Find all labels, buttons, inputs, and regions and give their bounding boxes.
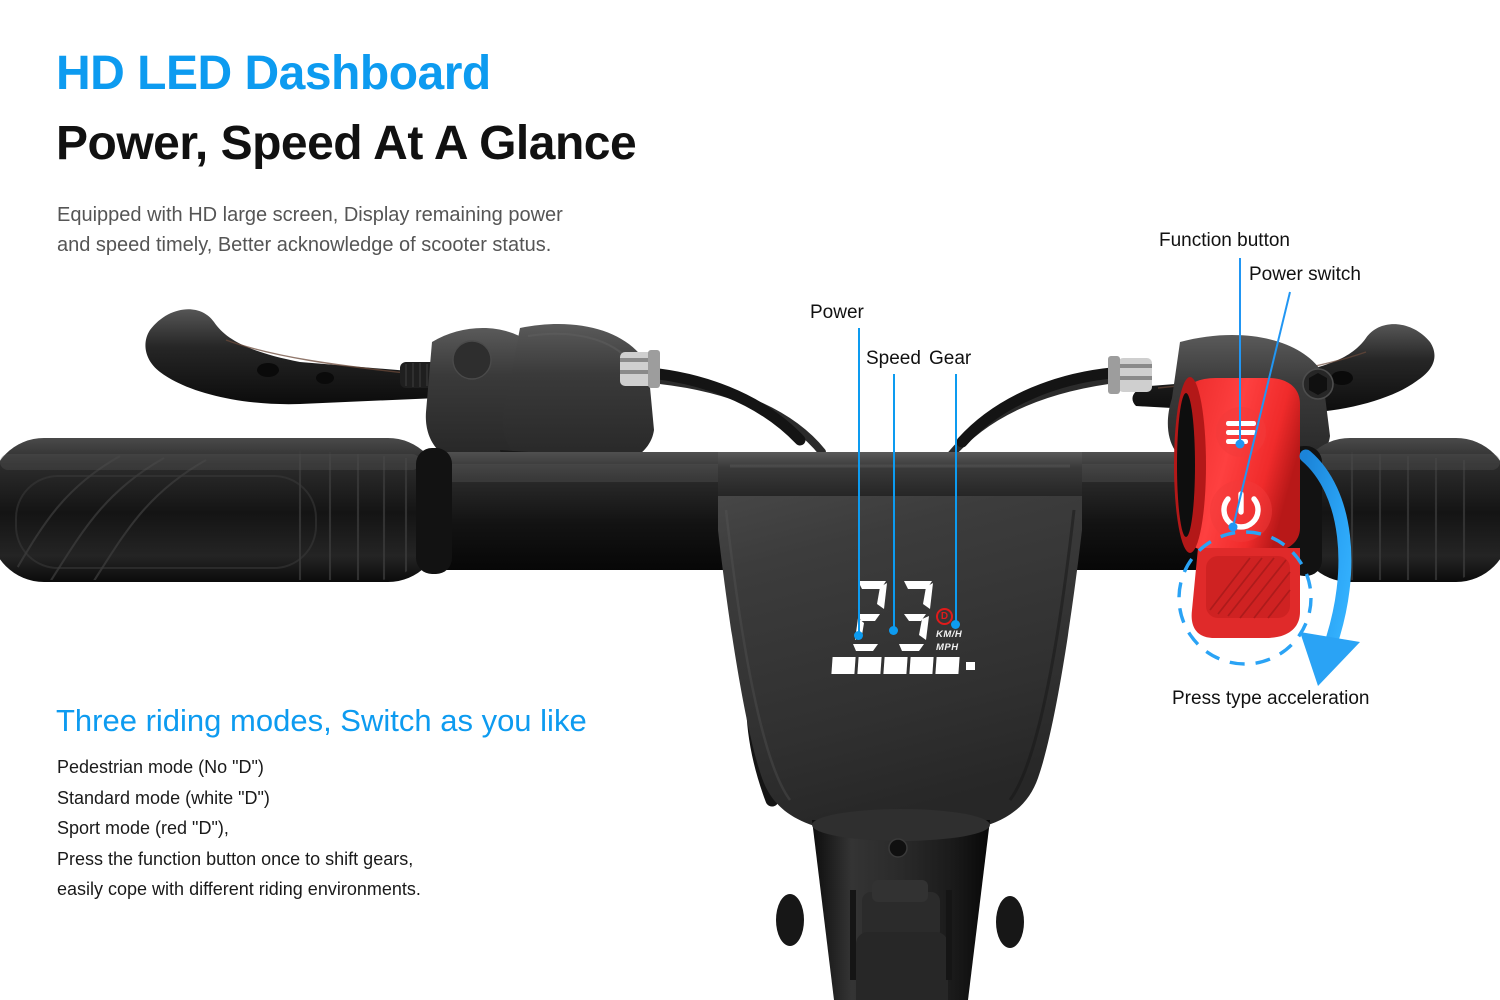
battery-bar — [883, 657, 907, 674]
list-item: Pedestrian mode (No "D") — [57, 752, 421, 783]
battery-bar — [909, 657, 933, 674]
list-item: Standard mode (white "D") — [57, 783, 421, 814]
right-handgrip — [1288, 438, 1500, 582]
leader-dot-gear — [951, 620, 960, 629]
callout-speed: Speed — [866, 348, 921, 370]
cable-adjuster-right — [1108, 356, 1152, 394]
seven-segment-digits — [850, 578, 942, 652]
cable-adjuster-left — [620, 350, 660, 388]
headline-accent: HD LED Dashboard — [56, 46, 491, 101]
battery-bar — [857, 657, 881, 674]
led-display: D KM/H MPH — [832, 578, 972, 678]
headline-main: Power, Speed At A Glance — [56, 116, 636, 171]
leader-line-gear — [955, 374, 957, 624]
function-lines-icon[interactable] — [1216, 407, 1266, 457]
list-item: Sport mode (red "D"), — [57, 813, 421, 844]
scooter-stem — [776, 809, 1024, 1000]
unit-mph: MPH — [936, 641, 962, 654]
list-item: easily cope with different riding enviro… — [57, 874, 421, 905]
subtitle-text: Equipped with HD large screen, Display r… — [57, 200, 563, 260]
callout-power-switch: Power switch — [1249, 264, 1361, 286]
battery-gauge — [832, 657, 975, 674]
battery-bar — [831, 657, 855, 674]
battery-bar — [935, 657, 959, 674]
leader-line-speed — [893, 374, 895, 630]
modes-list: Pedestrian mode (No "D") Standard mode (… — [57, 752, 421, 905]
battery-terminal-nub — [966, 662, 975, 670]
power-symbol-icon[interactable] — [1210, 480, 1272, 542]
unit-kmh: KM/H — [936, 628, 962, 641]
speed-units: KM/H MPH — [936, 628, 962, 654]
callout-function-button: Function button — [1159, 230, 1290, 252]
modes-title: Three riding modes, Switch as you like — [56, 703, 587, 739]
red-throttle-module[interactable] — [1174, 377, 1300, 638]
callout-press-acceleration: Press type acceleration — [1172, 688, 1370, 710]
leader-dot-speed — [889, 626, 898, 635]
speed-readout — [850, 578, 942, 657]
callout-gear: Gear — [929, 348, 971, 370]
gear-letter: D — [941, 611, 948, 622]
leader-line-power — [858, 328, 860, 635]
product-feature-slide: D KM/H MPH Power Speed Gear Function but… — [0, 0, 1500, 1000]
callout-power: Power — [810, 302, 864, 324]
left-handgrip — [0, 438, 452, 584]
throttle-paddle-icon[interactable] — [1206, 556, 1290, 618]
leader-dot-power — [854, 631, 863, 640]
list-item: Press the function button once to shift … — [57, 844, 421, 875]
